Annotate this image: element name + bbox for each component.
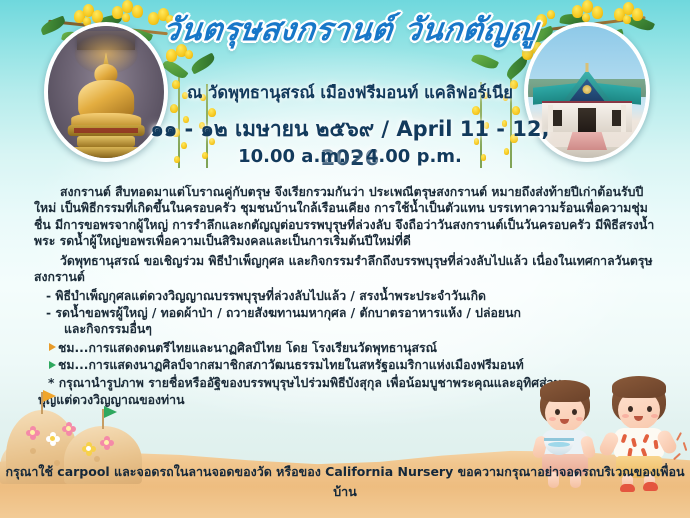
paragraph-intro: สงกรานต์ สืบทอดมาแต่โบราณคู่กับตรุษ จึงเ…	[34, 184, 656, 250]
performance-line-2: ชม...การแสดงนาฏศิลป์จากสมาชิกสภาวัฒนธรรม…	[34, 357, 656, 373]
activity-bullet-1: - พิธีบำเพ็ญกุศลแต่ดวงวิญญาณบรรพบุรุษที่…	[34, 288, 656, 304]
flag-orange-icon	[43, 390, 56, 402]
paragraph-invitation: วัดพุทธานุสรณ์ ขอเชิญร่วม พิธีบำเพ็ญกุศล…	[34, 253, 656, 286]
triangle-bullet-orange-icon	[49, 343, 56, 351]
footer-note: กรุณาใช้ carpool และจอดรถในลานจอดของวัด …	[0, 462, 690, 502]
triangle-bullet-green-icon	[49, 361, 56, 369]
poster-header: วันตรุษสงกรานต์ วันกตัญญู ณ วัดพุทธานุสร…	[0, 0, 690, 182]
performance-line-2-text: ชม...การแสดงนาฏศิลป์จากสมาชิกสภาวัฒนธรรม…	[58, 358, 524, 372]
performance-line-1: ชม...การแสดงดนตรีไทยและนาฏศิลป์ไทย โดย โ…	[34, 340, 656, 356]
songkran-poster: วันตรุษสงกรานต์ วันกตัญญู ณ วัดพุทธานุสร…	[0, 0, 690, 518]
page-title: วันตรุษสงกรานต์ วันกตัญญู	[148, 14, 552, 47]
activity-bullet-2: - รดน้ำขอพรผู้ใหญ่ / ทอดผ้าป่า / ถวายสัง…	[34, 305, 656, 321]
activity-bullet-2-continued: และกิจกรรมอื่นๆ	[34, 321, 656, 337]
performance-line-1-text: ชม...การแสดงดนตรีไทยและนาฏศิลป์ไทย โดย โ…	[58, 341, 437, 355]
venue-line: ณ วัดพุทธานุสรณ์ เมืองฟรีมอนท์ แคลิฟอร์เ…	[120, 80, 580, 106]
flag-green-icon	[104, 406, 117, 418]
time-line: 10.00 a.m. - 4.00 p.m.	[120, 146, 580, 167]
